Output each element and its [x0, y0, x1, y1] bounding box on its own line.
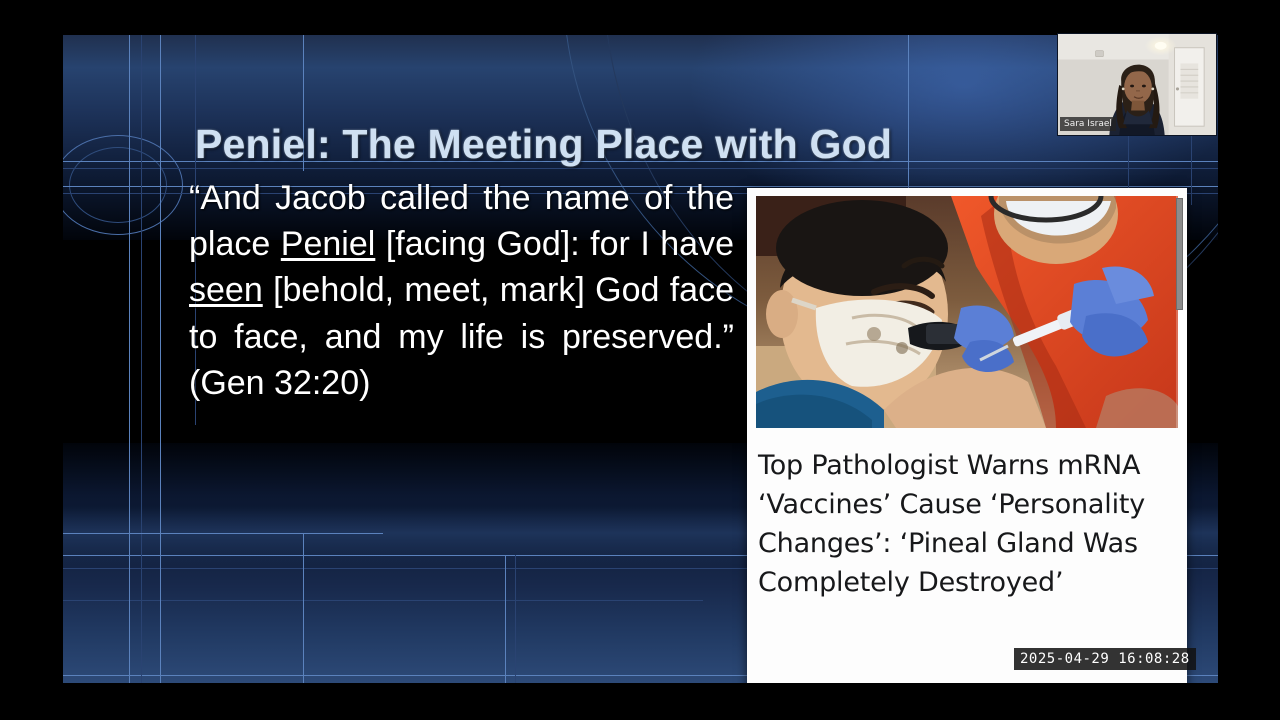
vaccination-photo: [756, 196, 1178, 428]
background-hline-2: [63, 168, 1218, 169]
scripture-part-2: [facing God]: for I have: [375, 225, 734, 263]
scripture-underlined-seen: seen: [189, 271, 263, 309]
background-vline-5: [303, 533, 304, 683]
presentation-slide: Peniel: The Meeting Place with God “And …: [63, 35, 1218, 683]
background-ellipse-small: [69, 147, 167, 223]
webcam-video-tile[interactable]: Sara Israel: [1057, 33, 1217, 136]
scripture-quote-block: “And Jacob called the name of the place …: [189, 175, 734, 406]
background-vline-1: [129, 35, 130, 683]
background-vline-3: [160, 35, 161, 683]
background-step-top: [63, 533, 303, 534]
recording-timestamp: 2025-04-29 16:08:28: [1014, 648, 1196, 670]
news-article-card[interactable]: Top Pathologist Warns mRNA ‘Vaccines’ Ca…: [747, 188, 1187, 683]
background-vline-10: [908, 35, 909, 205]
background-vline-2: [141, 35, 142, 683]
background-hline-8: [63, 600, 703, 601]
webcam-participant-name: Sara Israel: [1060, 117, 1116, 131]
screen-recording-frame: Peniel: The Meeting Place with God “And …: [0, 0, 1280, 720]
card-scrollbar-thumb[interactable]: [1176, 198, 1183, 310]
background-vline-9: [515, 555, 516, 683]
scripture-underlined-peniel: Peniel: [281, 225, 376, 263]
background-vline-8: [505, 555, 506, 683]
scripture-part-3: [behold, meet, mark] God face to face, a…: [189, 271, 734, 401]
slide-title: Peniel: The Meeting Place with God: [195, 122, 1055, 167]
news-headline: Top Pathologist Warns mRNA ‘Vaccines’ Ca…: [758, 446, 1148, 603]
